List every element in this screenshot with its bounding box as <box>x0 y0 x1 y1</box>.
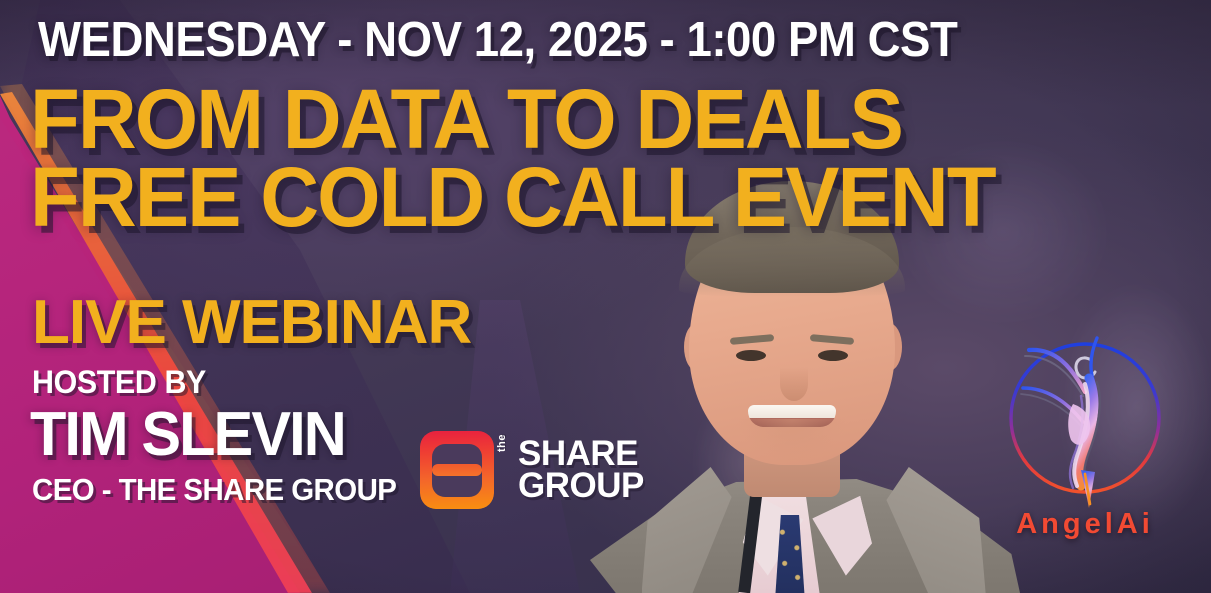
event-type-label: LIVE WEBINAR <box>32 292 471 354</box>
webinar-promo-banner: WEDNESDAY - NOV 12, 2025 - 1:00 PM CST F… <box>0 0 1211 593</box>
headline-line-1: FROM DATA TO DEALS <box>30 80 1166 158</box>
portrait-nose <box>780 367 808 401</box>
portrait-chin <box>737 419 847 461</box>
page-title: FROM DATA TO DEALS FREE COLD CALL EVENT <box>30 80 1166 236</box>
portrait-eye-right <box>818 350 848 361</box>
angelai-angel-icon <box>985 322 1185 512</box>
headline-line-2: FREE COLD CALL EVENT <box>30 158 1166 236</box>
speaker-name: TIM SLEVIN <box>30 404 345 466</box>
speaker-role: CEO - THE SHARE GROUP <box>32 474 396 505</box>
share-group-word-group: GROUP <box>518 470 644 502</box>
share-group-mark-bar <box>432 464 482 476</box>
hosted-by-label: HOSTED BY <box>32 366 206 398</box>
portrait-eye-left <box>736 350 766 361</box>
share-group-s-icon <box>420 431 494 509</box>
share-group-logo: the SHARE GROUP <box>420 424 630 516</box>
angelai-wordmark: AngelAi <box>985 508 1185 541</box>
event-datetime: WEDNESDAY - NOV 12, 2025 - 1:00 PM CST <box>38 16 1107 65</box>
angelai-logo: AngelAi <box>985 322 1185 557</box>
share-group-wordmark: SHARE GROUP <box>518 438 644 502</box>
share-group-the-text: the <box>496 434 508 452</box>
